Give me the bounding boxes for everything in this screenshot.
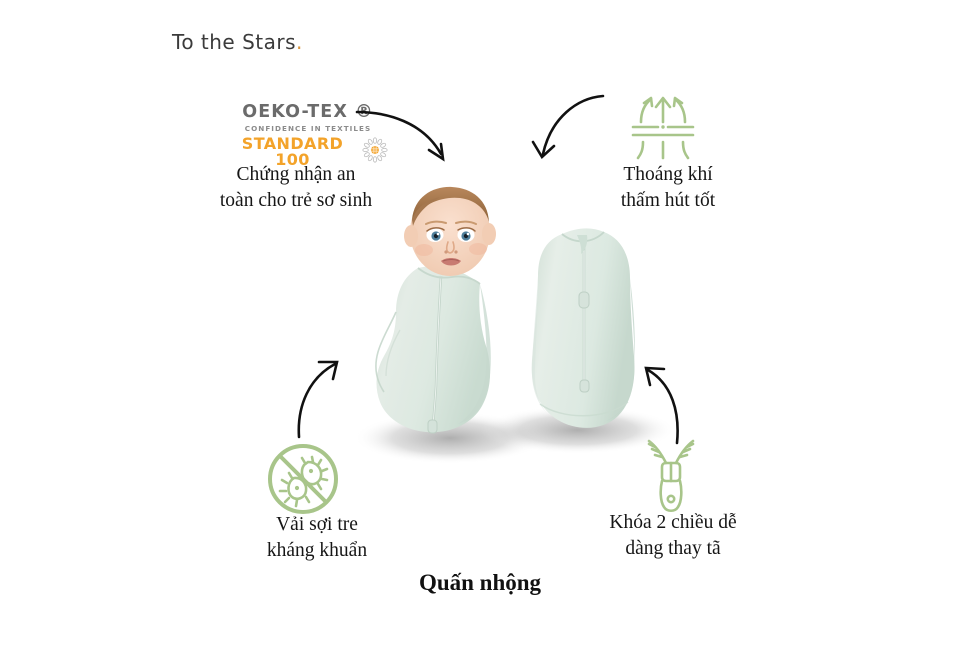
brand-dot: . [296,30,303,54]
oeko-tex-badge-icon: OEKO-TEX ® CONFIDENCE IN TEXTILES STANDA… [228,104,388,168]
oeko-tex-subtitle: CONFIDENCE IN TEXTILES [228,125,388,132]
brand-logo: To the Stars. [172,30,303,54]
feature-two-way-zipper: Khóa 2 chiều dễ dàng thay tã [580,510,766,561]
swaddled-baby [376,187,496,433]
feature-two-way-zipper-label: Khóa 2 chiều dễ dàng thay tã [580,510,766,561]
page-title: Quấn nhộng [0,570,960,596]
oeko-tex-title: OEKO-TEX ® [228,104,388,122]
feature-bamboo-antibacterial: Vải sợi tre kháng khuẩn [228,512,406,563]
feature-bamboo-antibacterial-label: Vải sợi tre kháng khuẩn [228,512,406,563]
brand-name: To the Stars [172,30,296,54]
product-photo [300,180,680,480]
air-flow-breathable-icon [617,88,709,165]
infographic-canvas: To the Stars. OEKO-TEX ® CONFIDENCE IN T… [0,0,960,650]
swaddle-back-view [532,228,635,428]
